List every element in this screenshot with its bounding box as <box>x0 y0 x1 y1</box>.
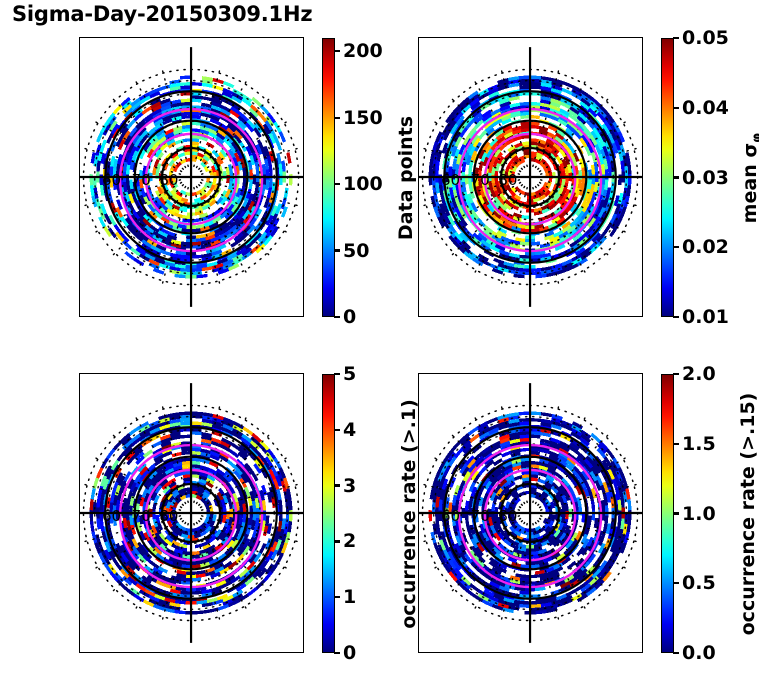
colorbar-tick-label: 2 <box>343 530 356 552</box>
colorbar-data-points <box>322 38 335 317</box>
colorbar-occurrence-rate-gt-0p1 <box>322 374 335 653</box>
latitude-label-70: 70 <box>132 171 151 189</box>
colorbar-tick <box>334 316 340 318</box>
colorbar-title-subscript: φ <box>750 132 759 142</box>
colorbar-tick <box>334 484 340 486</box>
latitude-label-60: 60 <box>102 171 121 189</box>
colorbar-title-mean-sigma-phi: mean σφ <box>739 132 759 223</box>
latitude-label-80: 80 <box>159 171 178 189</box>
latitude-label-60: 60 <box>441 507 460 525</box>
colorbar-tick <box>334 50 340 52</box>
colorbar-tick-label: 0.04 <box>682 97 729 119</box>
colorbar-tick-label: 0.0 <box>682 642 716 664</box>
colorbar-tick-label: 3 <box>343 475 356 497</box>
colorbar-tick-label: 1.5 <box>682 433 716 455</box>
latitude-label-80: 80 <box>498 171 517 189</box>
colorbar-tick <box>334 249 340 251</box>
colorbar-tick <box>673 582 679 584</box>
colorbar-tick <box>334 540 340 542</box>
colorbar-tick-label: 1.0 <box>682 503 716 525</box>
colorbar-tick <box>334 183 340 185</box>
colorbar-tick <box>334 652 340 654</box>
colorbar-tick <box>334 429 340 431</box>
colorbar-tick <box>673 107 679 109</box>
latitude-label-80: 80 <box>159 507 178 525</box>
colorbar-title-text: mean σ <box>739 142 759 222</box>
latitude-label-60: 60 <box>441 171 460 189</box>
colorbar-tick-label: 5 <box>343 363 356 385</box>
colorbar-tick-label: 4 <box>343 419 356 441</box>
colorbar-tick <box>673 176 679 178</box>
latitude-label-60: 60 <box>102 507 121 525</box>
colorbar-tick-label: 0.01 <box>682 306 729 328</box>
figure-title: Sigma-Day-20150309.1Hz <box>12 2 312 26</box>
colorbar-tick-label: 1 <box>343 586 356 608</box>
colorbar-tick-label: 0 <box>343 306 356 328</box>
colorbar-tick-label: 0.5 <box>682 572 716 594</box>
colorbar-tick <box>334 596 340 598</box>
colorbar-tick-label: 0.05 <box>682 27 729 49</box>
colorbar-tick-label: 100 <box>343 173 383 195</box>
latitude-label-70: 70 <box>471 171 490 189</box>
axes-data-points: 607080 <box>79 37 304 317</box>
latitude-label-70: 70 <box>132 507 151 525</box>
axes-occurrence-rate-gt-0p1: 607080 <box>79 373 304 653</box>
colorbar-tick <box>673 373 679 375</box>
colorbar-tick <box>673 443 679 445</box>
colorbar-title-occurrence-rate-gt-0p1: occurrence rate (>.1) <box>398 399 420 629</box>
colorbar-tick-label: 200 <box>343 40 383 62</box>
axes-mean-sigma-phi: 607080 <box>418 37 643 317</box>
axes-occurrence-rate-gt-0p15: 607080 <box>418 373 643 653</box>
colorbar-title-occurrence-rate-gt-0p15: occurrence rate (>.15) <box>737 392 759 635</box>
colorbar-tick <box>334 117 340 119</box>
colorbar-tick <box>673 37 679 39</box>
figure-canvas: Sigma-Day-20150309.1Hz 60708005010015020… <box>0 0 759 674</box>
colorbar-tick-label: 0 <box>343 642 356 664</box>
colorbar-tick <box>673 652 679 654</box>
colorbar-tick <box>673 316 679 318</box>
colorbar-tick <box>673 512 679 514</box>
colorbar-title-data-points: Data points <box>395 115 417 239</box>
latitude-label-80: 80 <box>498 507 517 525</box>
colorbar-tick-label: 50 <box>343 240 369 262</box>
colorbar-tick-label: 0.03 <box>682 167 729 189</box>
colorbar-tick <box>673 246 679 248</box>
latitude-label-70: 70 <box>471 507 490 525</box>
colorbar-tick-label: 0.02 <box>682 236 729 258</box>
colorbar-tick-label: 150 <box>343 107 383 129</box>
colorbar-tick-label: 2.0 <box>682 363 716 385</box>
colorbar-tick <box>334 373 340 375</box>
